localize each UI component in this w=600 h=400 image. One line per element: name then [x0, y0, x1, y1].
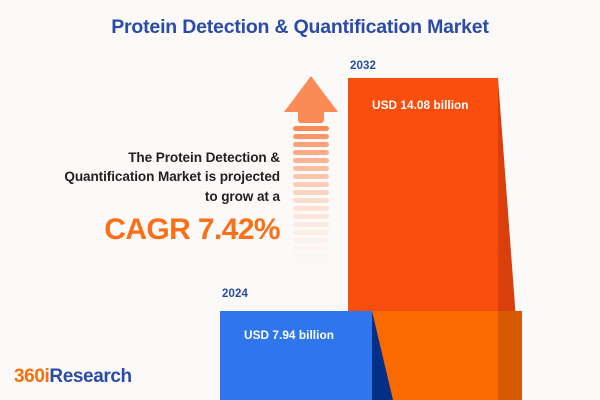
- callout-lead-text: The Protein Detection & Quantification M…: [18, 148, 280, 206]
- arrow-shaft-segment: [293, 262, 329, 267]
- arrow-shaft-segment: [293, 158, 329, 163]
- bar-2024-front-face: [220, 311, 372, 400]
- arrow-shaft-segment: [293, 182, 329, 187]
- arrow-shaft-segment: [293, 270, 329, 275]
- arrow-head-icon: [284, 76, 338, 112]
- callout-lead-line-2: Quantification Market is projected: [18, 167, 280, 186]
- arrow-shaft-segment: [293, 254, 329, 259]
- arrow-shaft-segment: [293, 198, 329, 203]
- bar-2024: [220, 311, 393, 400]
- bar-base-band-side: [498, 311, 522, 400]
- bar-2032-value-label: USD 14.08 billion: [372, 98, 469, 112]
- callout-lead-line-1: The Protein Detection &: [18, 148, 280, 167]
- arrow-shaft-segment: [293, 278, 329, 283]
- arrow-neck: [298, 112, 324, 123]
- arrow-shaft-segment: [293, 206, 329, 211]
- arrow-shaft-segment: [293, 174, 329, 179]
- bar-2024-side-face: [372, 311, 393, 400]
- infographic-canvas: Protein Detection & Quantification Marke…: [0, 0, 600, 400]
- logo-text-research: Research: [49, 366, 131, 387]
- growth-arrow-icon: [284, 76, 338, 290]
- arrow-shaft-segment: [293, 134, 329, 139]
- arrow-shaft: [293, 126, 329, 290]
- bar-2024-year-label: 2024: [222, 288, 248, 300]
- arrow-shaft-segment: [293, 190, 329, 195]
- callout-lead-line-3: to grow at a: [18, 187, 280, 206]
- arrow-shaft-segment: [293, 166, 329, 171]
- bar-2032-year-label: 2032: [350, 60, 376, 72]
- logo-text-360: 360: [14, 366, 45, 387]
- arrow-shaft-segment: [293, 142, 329, 147]
- arrow-shaft-segment: [293, 246, 329, 251]
- arrow-shaft-segment: [293, 230, 329, 235]
- arrow-shaft-segment: [293, 238, 329, 243]
- callout-block: The Protein Detection & Quantification M…: [18, 148, 280, 245]
- bar-2024-value-label: USD 7.94 billion: [244, 328, 334, 342]
- arrow-shaft-segment: [293, 150, 329, 155]
- brand-logo: 360iResearch: [14, 366, 132, 388]
- cagr-value: CAGR 7.42%: [18, 214, 280, 246]
- arrow-shaft-segment: [293, 222, 329, 227]
- page-title: Protein Detection & Quantification Marke…: [0, 16, 600, 39]
- arrow-shaft-segment: [293, 126, 329, 131]
- arrow-shaft-segment: [293, 214, 329, 219]
